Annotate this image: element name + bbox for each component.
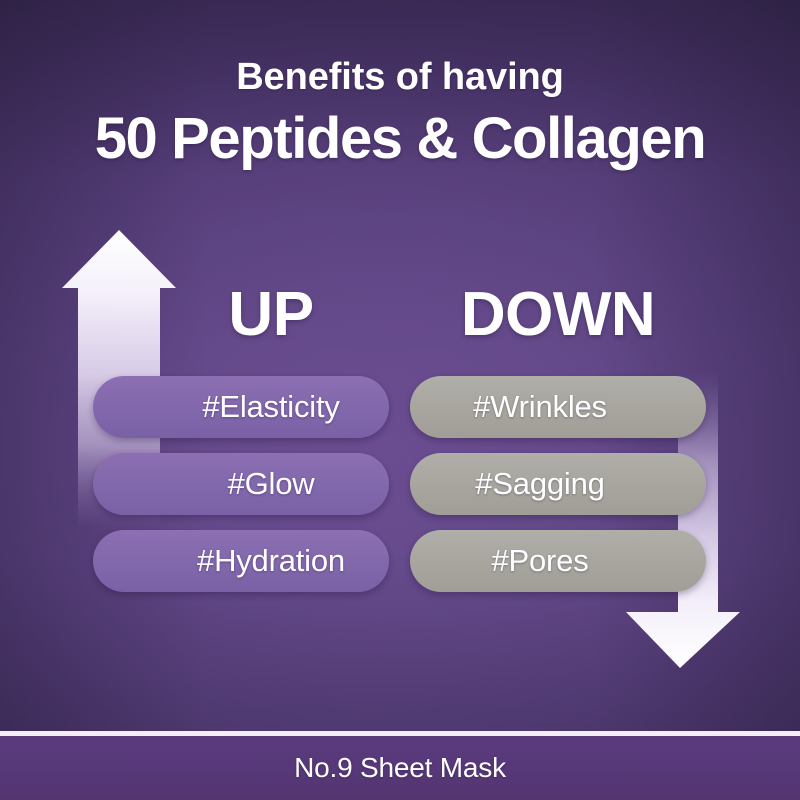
column-up-pill-list: #Elasticity #Glow #Hydration <box>93 376 389 592</box>
pill-hydration[interactable]: #Hydration <box>93 530 389 592</box>
pill-label: #Wrinkles <box>473 389 607 425</box>
footer-bar: No.9 Sheet Mask <box>0 736 800 800</box>
pill-label: #Pores <box>491 543 588 579</box>
column-up: UP #Elasticity #Glow #Hydration <box>93 284 389 592</box>
headline-line-2: 50 Peptides & Collagen <box>0 110 800 168</box>
headline-block: Benefits of having 50 Peptides & Collage… <box>0 58 800 168</box>
pill-label: #Sagging <box>475 466 604 502</box>
headline-line-1: Benefits of having <box>0 58 800 96</box>
poster-canvas: UP #Elasticity #Glow #Hydration DOWN #Wr… <box>0 0 800 800</box>
pill-pores[interactable]: #Pores <box>410 530 706 592</box>
pill-sagging[interactable]: #Sagging <box>410 453 706 515</box>
pill-label: #Glow <box>228 466 315 502</box>
pill-glow[interactable]: #Glow <box>93 453 389 515</box>
pill-elasticity[interactable]: #Elasticity <box>93 376 389 438</box>
column-up-title: UP <box>93 284 389 346</box>
pill-label: #Hydration <box>197 543 345 579</box>
column-down-pill-list: #Wrinkles #Sagging #Pores <box>410 376 706 592</box>
footer-product-name: No.9 Sheet Mask <box>294 752 506 784</box>
pill-wrinkles[interactable]: #Wrinkles <box>410 376 706 438</box>
column-down: DOWN #Wrinkles #Sagging #Pores <box>410 284 706 592</box>
pill-label: #Elasticity <box>202 389 339 425</box>
column-down-title: DOWN <box>410 284 706 346</box>
